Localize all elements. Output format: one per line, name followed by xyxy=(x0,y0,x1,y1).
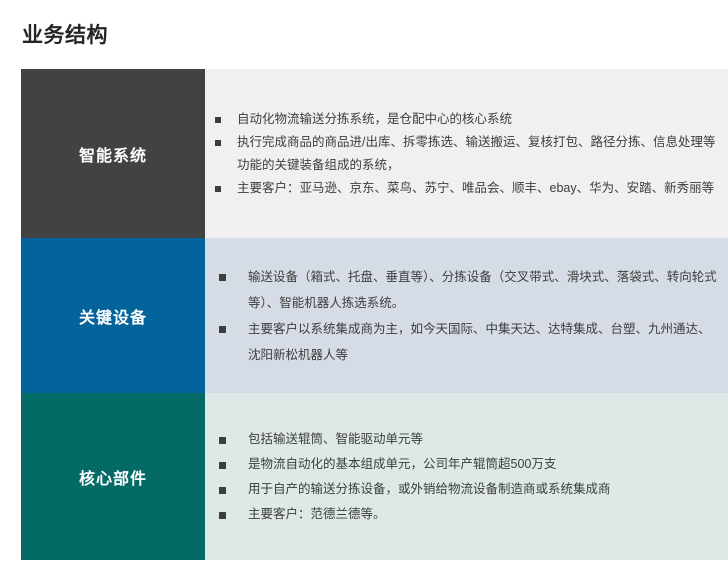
bullet-square-icon xyxy=(215,186,221,192)
row-label-core-components: 核心部件 xyxy=(21,393,205,560)
list-item: 自动化物流输送分拣系统，是仓配中心的核心系统 xyxy=(215,108,718,131)
bullet-list: 输送设备（箱式、托盘、垂直等）、分拣设备（交叉带式、滑块式、落袋式、转向轮式等）… xyxy=(205,264,718,368)
list-item: 是物流自动化的基本组成单元，公司年产辊筒超500万支 xyxy=(215,452,718,477)
bullet-square-icon xyxy=(219,437,226,444)
business-structure-table: 智能系统 自动化物流输送分拣系统，是仓配中心的核心系统 执行完成商品的商品进/出… xyxy=(21,69,728,560)
list-item-text: 输送设备（箱式、托盘、垂直等）、分拣设备（交叉带式、滑块式、落袋式、转向轮式等）… xyxy=(248,270,717,310)
list-item-text: 主要客户：亚马逊、京东、菜鸟、苏宁、唯品会、顺丰、ebay、华为、安踏、新秀丽等 xyxy=(237,181,714,195)
table-row: 核心部件 包括输送辊筒、智能驱动单元等 是物流自动化的基本组成单元，公司年产辊筒… xyxy=(21,393,728,560)
bullet-list: 包括输送辊筒、智能驱动单元等 是物流自动化的基本组成单元，公司年产辊筒超500万… xyxy=(205,427,718,527)
list-item-text: 是物流自动化的基本组成单元，公司年产辊筒超500万支 xyxy=(248,457,556,471)
bullet-list: 自动化物流输送分拣系统，是仓配中心的核心系统 执行完成商品的商品进/出库、拆零拣… xyxy=(205,108,718,200)
bullet-square-icon xyxy=(219,274,226,281)
table-row: 智能系统 自动化物流输送分拣系统，是仓配中心的核心系统 执行完成商品的商品进/出… xyxy=(21,69,728,238)
bullet-square-icon xyxy=(219,512,226,519)
bullet-square-icon xyxy=(215,117,221,123)
list-item-text: 自动化物流输送分拣系统，是仓配中心的核心系统 xyxy=(237,112,512,126)
list-item: 执行完成商品的商品进/出库、拆零拣选、输送搬运、复核打包、路径分拣、信息处理等功… xyxy=(215,131,718,177)
list-item-text: 用于自产的输送分拣设备，或外销给物流设备制造商或系统集成商 xyxy=(248,482,611,496)
list-item: 主要客户：范德兰德等。 xyxy=(215,502,718,527)
row-content-smart-system: 自动化物流输送分拣系统，是仓配中心的核心系统 执行完成商品的商品进/出库、拆零拣… xyxy=(205,69,728,238)
row-label-key-equipment: 关键设备 xyxy=(21,238,205,393)
list-item-text: 包括输送辊筒、智能驱动单元等 xyxy=(248,432,423,446)
list-item: 用于自产的输送分拣设备，或外销给物流设备制造商或系统集成商 xyxy=(215,477,718,502)
row-label-smart-system: 智能系统 xyxy=(21,69,205,238)
list-item-text: 主要客户：范德兰德等。 xyxy=(248,507,386,521)
list-item: 包括输送辊筒、智能驱动单元等 xyxy=(215,427,718,452)
list-item-text: 执行完成商品的商品进/出库、拆零拣选、输送搬运、复核打包、路径分拣、信息处理等功… xyxy=(237,135,715,172)
row-content-core-components: 包括输送辊筒、智能驱动单元等 是物流自动化的基本组成单元，公司年产辊筒超500万… xyxy=(205,393,728,560)
bullet-square-icon xyxy=(219,326,226,333)
list-item: 主要客户：亚马逊、京东、菜鸟、苏宁、唯品会、顺丰、ebay、华为、安踏、新秀丽等 xyxy=(215,177,718,200)
list-item-text: 主要客户以系统集成商为主，如今天国际、中集天达、达特集成、台塑、九州通达、沈阳新… xyxy=(248,322,711,362)
row-content-key-equipment: 输送设备（箱式、托盘、垂直等）、分拣设备（交叉带式、滑块式、落袋式、转向轮式等）… xyxy=(205,238,728,393)
list-item: 输送设备（箱式、托盘、垂直等）、分拣设备（交叉带式、滑块式、落袋式、转向轮式等）… xyxy=(215,264,718,316)
table-row: 关键设备 输送设备（箱式、托盘、垂直等）、分拣设备（交叉带式、滑块式、落袋式、转… xyxy=(21,238,728,393)
business-structure-page: 业务结构 智能系统 自动化物流输送分拣系统，是仓配中心的核心系统 执行完成商品的… xyxy=(0,0,728,569)
bullet-square-icon xyxy=(219,487,226,494)
bullet-square-icon xyxy=(215,140,221,146)
list-item: 主要客户以系统集成商为主，如今天国际、中集天达、达特集成、台塑、九州通达、沈阳新… xyxy=(215,316,718,368)
bullet-square-icon xyxy=(219,462,226,469)
page-title: 业务结构 xyxy=(22,22,108,50)
